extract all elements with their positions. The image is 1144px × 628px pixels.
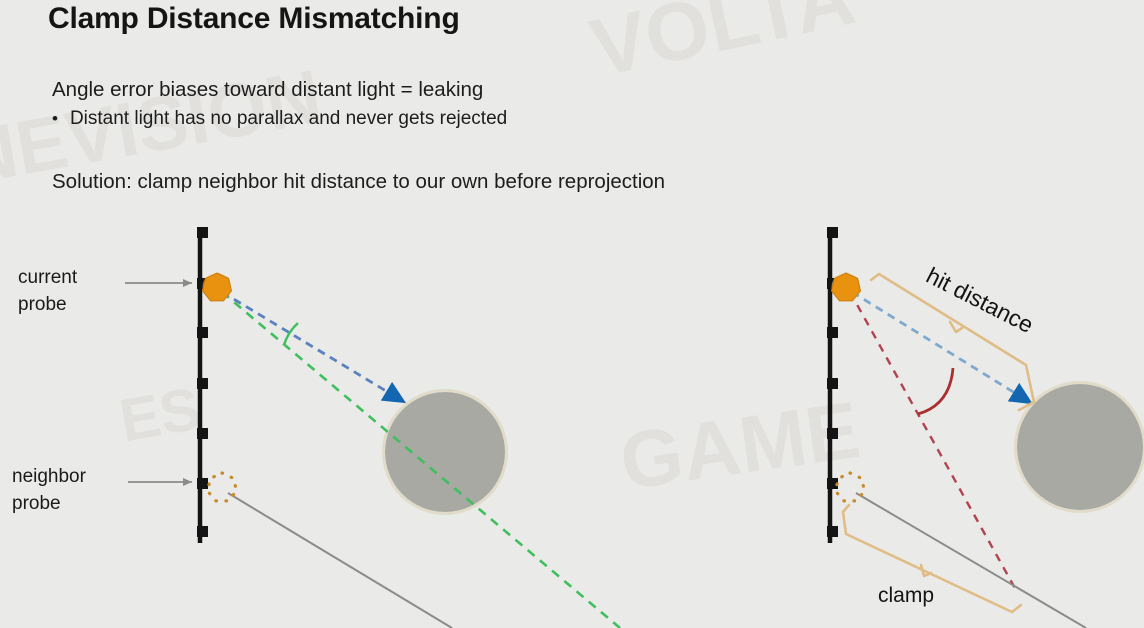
label-neighbor-probe-line1: neighbor <box>12 464 86 491</box>
label-neighbor-probe-line2: probe <box>12 491 86 518</box>
current-probe-marker <box>832 273 861 302</box>
pointer-arrow-neighbor-probe <box>128 478 192 486</box>
label-neighbor-probe: neighbor probe <box>12 464 86 518</box>
label-current-probe: current probe <box>18 265 77 319</box>
occluder-sphere <box>1017 384 1143 510</box>
label-clamp: clamp <box>878 584 934 608</box>
left-panel <box>125 227 620 628</box>
angle-marker-red <box>918 368 953 414</box>
current-probe-marker <box>203 273 232 302</box>
ray-geometry-grey <box>228 493 452 628</box>
ray-reprojected-blue <box>222 292 396 397</box>
occluder-sphere <box>385 392 505 512</box>
neighbor-probe-marker <box>208 473 237 501</box>
neighbor-probe-marker <box>836 473 865 501</box>
angle-marker-green <box>284 323 298 345</box>
ray-clamped-red <box>850 292 1016 590</box>
label-current-probe-line1: current <box>18 265 77 292</box>
slide-canvas: VOLTA NEVISION GAME ES Clamp Distance Mi… <box>0 0 1144 628</box>
label-current-probe-line2: probe <box>18 292 77 319</box>
ray-true-green <box>222 292 620 628</box>
diagram-figure <box>0 0 1144 628</box>
right-panel <box>827 227 1144 628</box>
pointer-arrow-current-probe <box>125 279 192 287</box>
